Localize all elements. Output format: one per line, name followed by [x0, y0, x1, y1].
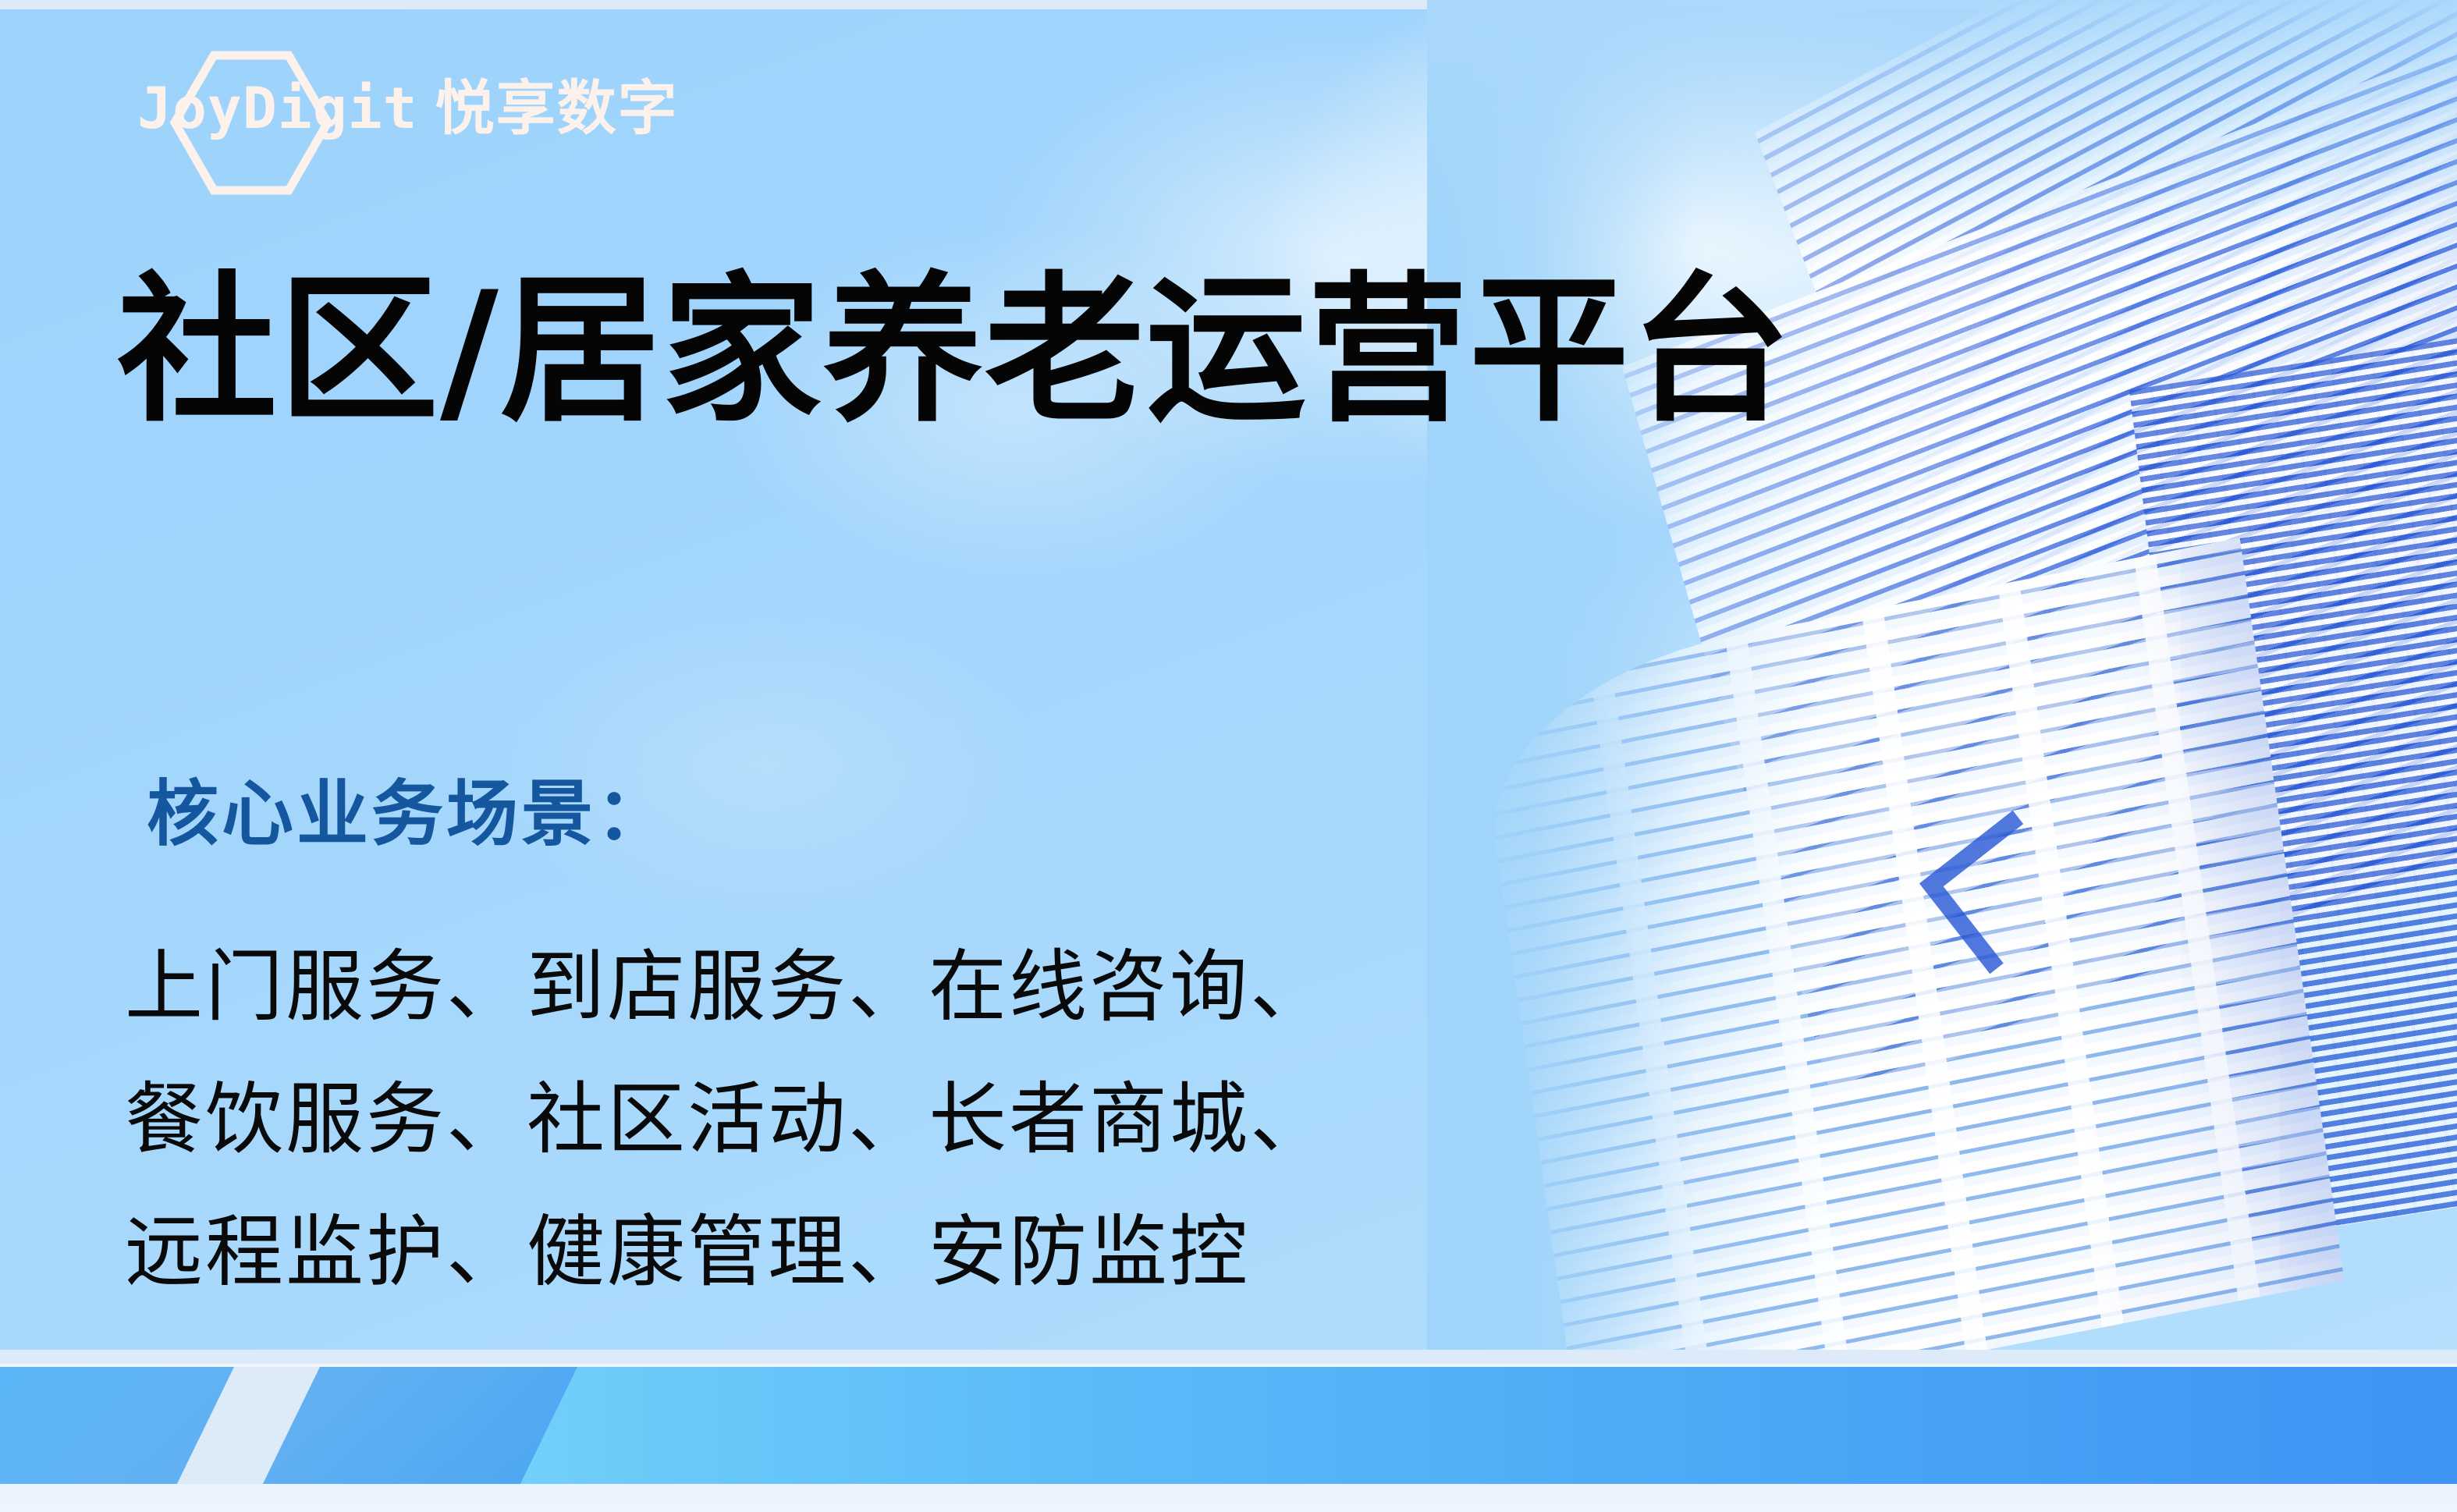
brand-logo[interactable]: JoyDigit 悦享数字 — [137, 66, 679, 151]
page-title: 社区/居家养老运营平台 — [117, 262, 1792, 442]
logo-latin-text: JoyDigit — [137, 80, 418, 137]
scenario-list: 上门服务、到店服务、在线咨询、 餐饮服务、社区活动、长者商城、 远程监护、健康管… — [125, 921, 1330, 1319]
top-edge-strip — [0, 0, 2457, 9]
section-subheading: 核心业务场景： — [147, 769, 671, 859]
scenario-line-3: 远程监护、健康管理、安防监控 — [125, 1186, 1330, 1319]
bottom-banner-hairline — [0, 1364, 2457, 1367]
scenario-line-2: 餐饮服务、社区活动、长者商城、 — [125, 1053, 1330, 1186]
bottom-banner — [0, 1350, 2457, 1512]
bottom-banner-main-bar — [336, 1367, 2457, 1484]
scenario-line-1: 上门服务、到店服务、在线咨询、 — [125, 921, 1330, 1053]
logo-mark: JoyDigit — [137, 80, 418, 137]
slide-canvas: JoyDigit 悦享数字 社区/居家养老运营平台 核心业务场景： 上门服务、到… — [0, 0, 2457, 1512]
logo-chinese-text: 悦享数字 — [435, 79, 679, 138]
